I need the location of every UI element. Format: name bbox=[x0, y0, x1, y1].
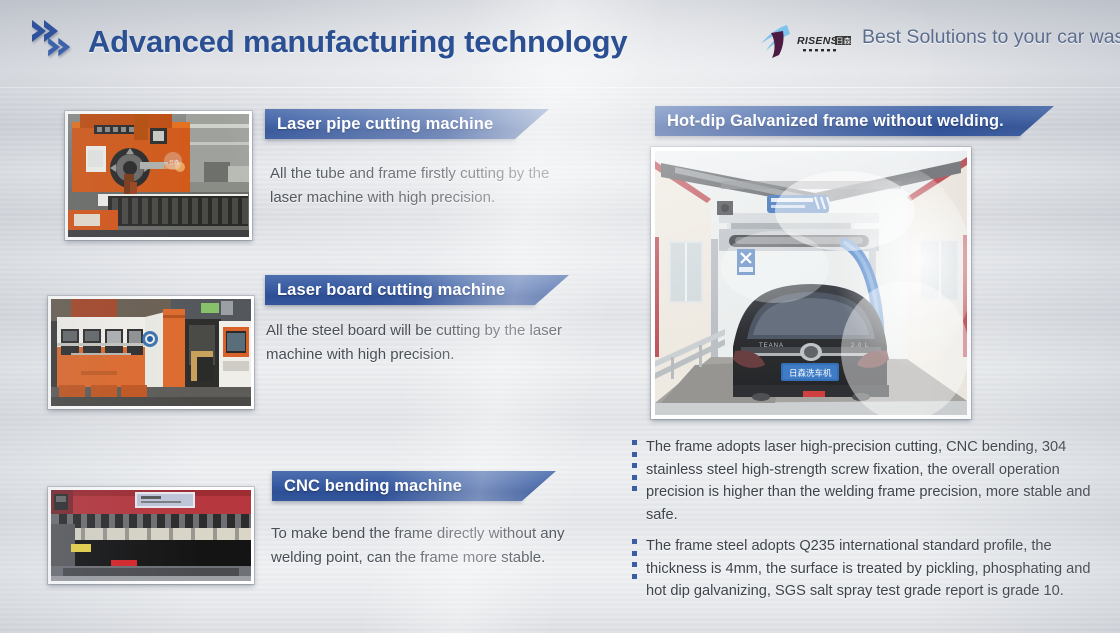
photo-cnc-bending-machine bbox=[48, 487, 254, 584]
bullet-list: The frame adopts laser high-precision cu… bbox=[628, 436, 1098, 612]
description-laser-pipe-cutting: All the tube and frame firstly cutting b… bbox=[270, 162, 570, 209]
laser-board-cutting-machine-image bbox=[51, 299, 251, 406]
photo-car-wash-bay: 日森洗车机 TEANA 2.0 L bbox=[651, 147, 971, 419]
banner-tail bbox=[1020, 106, 1054, 136]
banner-label: Hot-dip Galvanized frame without welding… bbox=[655, 112, 1004, 131]
double-chevron-right-icon bbox=[14, 18, 84, 66]
laser-pipe-cutting-machine-image: 日森 bbox=[68, 114, 249, 237]
description-laser-board-cutting: All the steel board will be cutting by t… bbox=[266, 319, 566, 366]
risense-logo-mark: RISENSE · 日森 bbox=[757, 23, 853, 61]
photo-reflection-2 bbox=[48, 412, 254, 442]
car-wash-bay-image: 日森洗车机 TEANA 2.0 L bbox=[655, 151, 967, 415]
svg-text:日森: 日森 bbox=[169, 159, 179, 166]
slide-background: Advanced manufacturing technology RISENS… bbox=[0, 0, 1120, 633]
bullet-text: The frame steel adopts Q235 internationa… bbox=[646, 535, 1098, 603]
bullet-square-icon bbox=[628, 535, 646, 603]
banner-tail bbox=[522, 471, 556, 501]
photo-laser-pipe-cutting-machine: 日森 bbox=[65, 111, 252, 240]
risense-logo: RISENSE · 日森 bbox=[757, 23, 853, 59]
photo-reflection-3 bbox=[48, 587, 254, 613]
brand-tagline: Best Solutions to your car wash bbox=[862, 26, 1120, 49]
banner-label: CNC bending machine bbox=[272, 477, 462, 496]
banner-laser-pipe-cutting-machine: Laser pipe cutting machine bbox=[265, 109, 515, 139]
list-item: The frame adopts laser high-precision cu… bbox=[628, 436, 1098, 526]
bullet-text: The frame adopts laser high-precision cu… bbox=[646, 436, 1098, 526]
cnc-bending-machine-image bbox=[51, 490, 251, 581]
list-item: The frame steel adopts Q235 internationa… bbox=[628, 535, 1098, 603]
banner-cnc-bending-machine: CNC bending machine bbox=[272, 471, 522, 501]
page-title: Advanced manufacturing technology bbox=[88, 24, 627, 60]
banner-label: Laser pipe cutting machine bbox=[265, 115, 493, 134]
photo-reflection-1 bbox=[65, 243, 252, 277]
banner-laser-board-cutting-machine: Laser board cutting machine bbox=[265, 275, 535, 305]
chevron-right-icon-small bbox=[46, 36, 74, 58]
banner-tail bbox=[535, 275, 569, 305]
slide-header: Advanced manufacturing technology RISENS… bbox=[0, 0, 1120, 88]
banner-hot-dip-galvanized-frame: Hot-dip Galvanized frame without welding… bbox=[655, 106, 1020, 136]
banner-label: Laser board cutting machine bbox=[265, 281, 505, 300]
photo-laser-board-cutting-machine bbox=[48, 296, 254, 409]
svg-text:日森: 日森 bbox=[836, 36, 851, 46]
banner-tail bbox=[515, 109, 549, 139]
description-cnc-bending: To make bend the frame directly without … bbox=[271, 522, 581, 569]
bullet-square-icon bbox=[628, 436, 646, 526]
